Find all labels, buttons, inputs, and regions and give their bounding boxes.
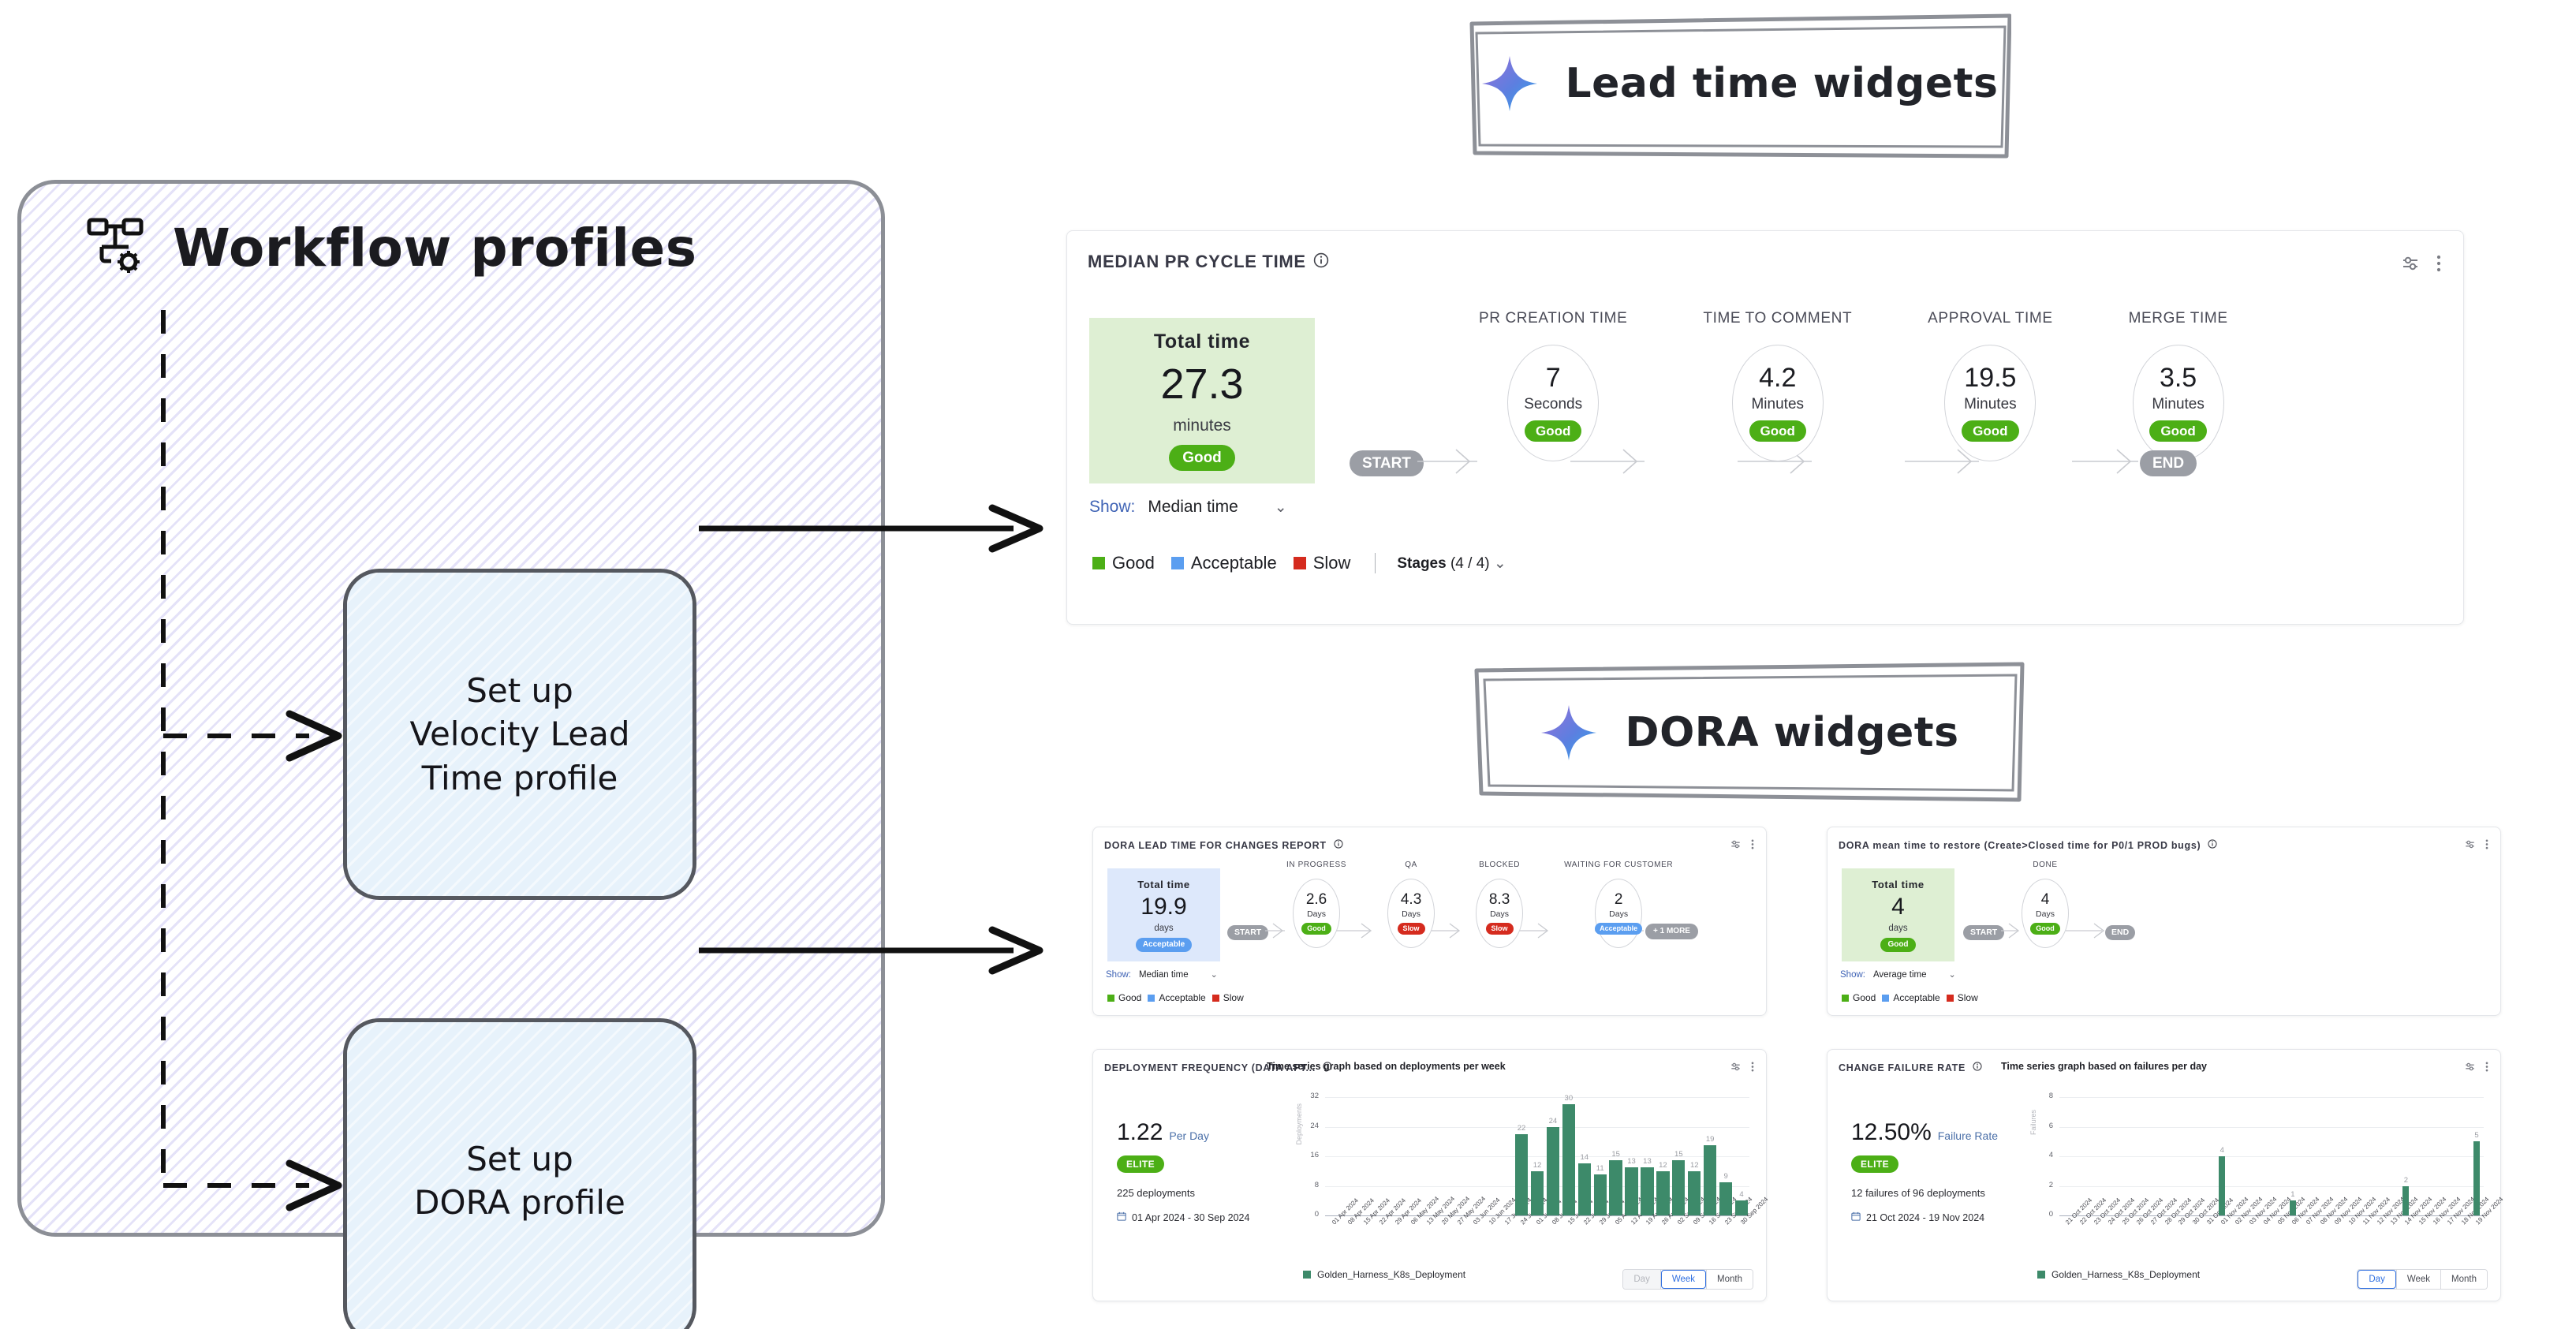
bar-value-label: 22: [1507, 1124, 1536, 1133]
dora-lt-stage-2-value: 8.3: [1489, 892, 1510, 907]
pr-stage-1-status: Good: [1749, 420, 1806, 442]
dora-lt-stage-3-name: WAITING FOR CUSTOMER: [1564, 860, 1673, 869]
sparkle-icon: [1540, 704, 1598, 762]
dora-mttr-show-label: Show:: [1840, 970, 1865, 980]
sparkle-icon: [1480, 54, 1539, 113]
workflow-profiles-title: Workflow profiles: [173, 218, 697, 278]
pr-stage-0-node: 7 Seconds Good: [1507, 345, 1599, 461]
bar[interactable]: [1641, 1167, 1653, 1215]
calendar-icon: [1117, 1211, 1126, 1223]
cfr-tools: [2464, 1061, 2489, 1077]
bar-value-label: 14: [1570, 1153, 1599, 1162]
cfr-granularity-month[interactable]: Month: [2441, 1270, 2487, 1289]
cfr-sub: 12 failures of 96 deployments: [1851, 1187, 1998, 1199]
dora-mttr-legend-slow: Slow: [1947, 992, 1978, 1003]
dora-lt-stage-1-unit: Days: [1402, 909, 1421, 919]
chevron-down-icon[interactable]: ⌄: [1949, 969, 1956, 980]
pr-stages-toggle[interactable]: Stages (4 / 4) ⌄: [1397, 554, 1506, 573]
pr-stage-0-unit: Seconds: [1524, 396, 1582, 413]
lead-time-widgets-banner: Lead time widgets: [1467, 6, 2011, 161]
dora-lt-legend: Good Acceptable Slow: [1107, 992, 1244, 1003]
dora-lt-stage-1-name: QA: [1405, 860, 1417, 869]
pr-stage-1-node: 4.2 Minutes Good: [1732, 345, 1824, 461]
dora-widgets-banner: DORA widgets: [1473, 659, 2025, 806]
pr-stage-2-status: Good: [1962, 420, 2018, 442]
dora-lt-stage-0-status: Good: [1301, 923, 1331, 935]
workflow-profiles-header: Workflow profiles: [84, 217, 697, 278]
cfr-granularity-day[interactable]: Day: [2358, 1270, 2395, 1289]
dora-lead-time-widget: DORA lead time for changes report Total …: [1092, 827, 1767, 1016]
dora-mttr-stage-0-value: 4: [2041, 892, 2050, 907]
pr-show-row[interactable]: Show: Median time ⌄: [1089, 498, 1287, 517]
velocity-profile-label: Set up Velocity Lead Time profile: [409, 669, 629, 800]
pr-stages-toggle-count: (4 / 4): [1450, 555, 1490, 572]
change-failure-rate-widget: Change failure rate Time series graph ba…: [1827, 1049, 2501, 1301]
y-axis-tick: 4: [2031, 1151, 2053, 1159]
bar-value-label: 15: [1664, 1150, 1693, 1159]
depfreq-granularity-week[interactable]: Week: [1661, 1270, 1706, 1289]
gridline: [1325, 1097, 1749, 1098]
calendar-icon: [1851, 1211, 1861, 1223]
pr-stage-3-unit: Minutes: [2152, 396, 2205, 413]
deployment-frequency-widget: Deployment frequency (Data Aft... Time s…: [1092, 1049, 1767, 1301]
depfreq-granularity-month[interactable]: Month: [1707, 1270, 1753, 1289]
dora-lt-show-label: Show:: [1106, 970, 1131, 980]
depfreq-kpi-block: 1.22 Per Day ELITE 225 deployments 01 Ap…: [1117, 1121, 1249, 1223]
depfreq-chart-subtitle: Time series graph based on deployments p…: [1267, 1061, 1506, 1072]
pr-stage-0[interactable]: PR creation time 7 Seconds Good: [1479, 310, 1627, 461]
dora-mttr-legend-acceptable-label: Acceptable: [1893, 992, 1939, 1003]
lead-time-widgets-banner-label: Lead time widgets: [1566, 60, 1999, 107]
pr-stage-0-name: PR creation time: [1479, 310, 1627, 327]
depfreq-granularity-day[interactable]: Day: [1623, 1270, 1659, 1289]
dora-lt-stage-0-name: IN PROGRESS: [1286, 860, 1346, 869]
bar[interactable]: [1515, 1134, 1528, 1215]
pr-legend-good: Good: [1092, 553, 1155, 573]
dora-mttr-legend: Good Acceptable Slow: [1842, 992, 1978, 1003]
pr-stage-3-node: 3.5 Minutes Good: [2133, 345, 2224, 461]
bar-value-label: 4: [2208, 1146, 2236, 1155]
pr-stage-1-value: 4.2: [1759, 364, 1796, 391]
dora-mttr-legend-good: Good: [1842, 992, 1876, 1003]
pr-stage-2[interactable]: Approval time 19.5 Minutes Good: [1928, 310, 2052, 461]
bar[interactable]: [1625, 1167, 1637, 1215]
depfreq-kpi-value: 1.22: [1117, 1121, 1163, 1144]
cfr-kpi-block: 12.50% Failure Rate ELITE 12 failures of…: [1851, 1121, 1998, 1223]
cfr-badge: ELITE: [1851, 1155, 1898, 1173]
overflow-menu-icon[interactable]: [1750, 1061, 1755, 1077]
bar[interactable]: [1688, 1171, 1701, 1215]
pr-legend: Good Acceptable Slow Stages (4 / 4) ⌄: [1092, 553, 1506, 573]
dora-lt-stage-3-status: Acceptable: [1595, 923, 1642, 935]
pr-stage-2-unit: Minutes: [1964, 396, 2017, 413]
dora-lt-legend-acceptable: Acceptable: [1148, 992, 1205, 1003]
bar-value-label: 9: [1712, 1172, 1740, 1181]
y-axis-tick: 32: [1297, 1092, 1319, 1100]
depfreq-series-legend: Golden_Harness_K8s_Deployment: [1303, 1269, 1465, 1280]
dora-lt-stage-3-value: 2: [1615, 892, 1623, 907]
bar[interactable]: [1531, 1171, 1544, 1215]
y-axis-tick: 16: [1297, 1151, 1319, 1159]
dora-lt-stage-1-status: Slow: [1398, 923, 1425, 935]
y-axis-tick: 8: [2031, 1092, 2053, 1100]
pr-stage-3-status: Good: [2149, 420, 2206, 442]
dora-mttr-connectors: [1827, 827, 2502, 1017]
cfr-chart-subtitle: Time series graph based on failures per …: [2001, 1061, 2207, 1072]
y-axis-tick: 8: [1297, 1181, 1319, 1189]
bar[interactable]: [1547, 1127, 1559, 1216]
dora-mttr-show-row[interactable]: Show: Average time ⌄: [1840, 969, 1956, 980]
dora-lt-legend-acceptable-label: Acceptable: [1159, 992, 1205, 1003]
dora-lt-stage-3-unit: Days: [1609, 909, 1628, 919]
pr-stage-3-value: 3.5: [2160, 364, 2197, 391]
cfr-title: Change failure rate: [1839, 1062, 1966, 1073]
chevron-down-icon[interactable]: ⌄: [1275, 498, 1287, 517]
dora-lt-stage-1[interactable]: QA 4.3 Days Slow: [1387, 860, 1435, 948]
chevron-down-icon[interactable]: ⌄: [1494, 555, 1506, 572]
dora-lt-stage-2-node: 8.3 Days Slow: [1476, 879, 1523, 948]
cfr-header: Change failure rate: [1839, 1061, 1982, 1075]
dora-lt-show-value: Median time: [1139, 970, 1189, 980]
pr-end-node: END: [2140, 450, 2197, 476]
y-axis-tick: 24: [1297, 1122, 1319, 1130]
bar-value-label: 5: [2462, 1131, 2491, 1140]
bar[interactable]: [2290, 1200, 2296, 1215]
gridline: [2059, 1186, 2484, 1187]
pr-show-label: Show:: [1089, 498, 1135, 517]
cfr-kpi-value: 12.50%: [1851, 1121, 1932, 1144]
dora-lt-stage-2[interactable]: BLOCKED 8.3 Days Slow: [1476, 860, 1523, 948]
dora-mttr-stage-0[interactable]: DONE 4 Days Good: [2022, 860, 2069, 948]
set-up-dora-profile-box[interactable]: Set up DORA profile: [343, 1018, 696, 1329]
pr-stage-track: PR creation time 7 Seconds Good Time to …: [1479, 310, 2228, 461]
dora-lt-legend-good-label: Good: [1118, 992, 1141, 1003]
dora-mttr-widget: DORA mean time to restore (Create>Closed…: [1827, 827, 2501, 1016]
dora-mttr-legend-good-label: Good: [1853, 992, 1876, 1003]
bar-value-label: 2: [2391, 1176, 2420, 1185]
y-axis-tick: 2: [2031, 1181, 2053, 1189]
gridline: [1325, 1127, 1749, 1128]
dora-lt-show-row[interactable]: Show: Median time ⌄: [1106, 969, 1218, 980]
pr-stages-toggle-label: Stages: [1397, 555, 1446, 572]
pr-stage-0-status: Good: [1525, 420, 1581, 442]
dora-lt-more-node[interactable]: + 1 MORE: [1645, 924, 1698, 939]
pr-stage-1-name: Time to comment: [1703, 310, 1852, 327]
dora-mttr-stage-0-status: Good: [2030, 923, 2060, 935]
settings-sliders-icon[interactable]: [1730, 1061, 1742, 1077]
bar[interactable]: [1609, 1160, 1622, 1215]
set-up-velocity-lead-time-profile-box[interactable]: Set up Velocity Lead Time profile: [343, 569, 696, 900]
dora-widgets-banner-label: DORA widgets: [1625, 709, 1958, 756]
pr-stage-2-name: Approval time: [1928, 310, 2052, 327]
pr-legend-slow: Slow: [1294, 553, 1351, 573]
pr-stage-3-name: Merge time: [2129, 310, 2228, 327]
pr-stage-0-value: 7: [1546, 364, 1561, 391]
dora-mttr-stage-track: DONE 4 Days Good: [2022, 860, 2069, 948]
dora-lt-legend-good: Good: [1107, 992, 1141, 1003]
cfr-date-range-row: 21 Oct 2024 - 19 Nov 2024: [1851, 1211, 1998, 1223]
workflow-settings-icon: [84, 217, 152, 278]
dora-profile-label: Set up DORA profile: [414, 1137, 625, 1225]
gridline: [2059, 1127, 2484, 1128]
dora-mttr-show-value: Average time: [1873, 970, 1927, 980]
pr-show-value: Median time: [1148, 498, 1238, 517]
dora-mttr-stage-0-unit: Days: [2036, 909, 2055, 919]
diagram-canvas: Workflow profiles Set up Velocity Lead T…: [0, 0, 2576, 1329]
dora-lt-stage-0[interactable]: IN PROGRESS 2.6 Days Good: [1286, 860, 1346, 948]
settings-sliders-icon[interactable]: [2464, 1061, 2476, 1077]
cfr-kpi-unit: Failure Rate: [1938, 1129, 1998, 1142]
dora-mttr-end-node: END: [2105, 925, 2135, 940]
cfr-granularity-week[interactable]: Week: [2397, 1270, 2440, 1289]
bar[interactable]: [1594, 1174, 1607, 1215]
depfreq-badge: ELITE: [1117, 1155, 1164, 1173]
bar[interactable]: [2402, 1186, 2409, 1216]
cfr-granularity-toggle[interactable]: Day Week Month: [2357, 1269, 2488, 1290]
bar-value-label: 30: [1555, 1094, 1583, 1103]
gridline: [2059, 1097, 2484, 1098]
pr-stage-1-unit: Minutes: [1751, 396, 1804, 413]
dora-lt-stage-0-unit: Days: [1307, 909, 1326, 919]
bar-value-label: 19: [1696, 1135, 1724, 1144]
bar-value-label: 4: [1727, 1190, 1756, 1199]
bar[interactable]: [1656, 1171, 1669, 1215]
depfreq-date-range: 01 Apr 2024 - 30 Sep 2024: [1132, 1212, 1249, 1223]
bar[interactable]: [2219, 1156, 2225, 1215]
chevron-down-icon[interactable]: ⌄: [1211, 969, 1218, 980]
dora-mttr-legend-acceptable: Acceptable: [1882, 992, 1939, 1003]
pr-stage-1[interactable]: Time to comment 4.2 Minutes Good: [1703, 310, 1852, 461]
legend-divider: [1375, 553, 1376, 573]
workflow-profiles-panel: Workflow profiles Set up Velocity Lead T…: [17, 180, 885, 1237]
depfreq-tools: [1730, 1061, 1755, 1077]
pr-legend-acceptable-label: Acceptable: [1191, 553, 1277, 573]
dora-mttr-stage-0-name: DONE: [2033, 860, 2057, 869]
pr-stage-2-node: 19.5 Minutes Good: [1944, 345, 2036, 461]
overflow-menu-icon[interactable]: [2485, 1061, 2489, 1077]
change-failure-rate-chart: Failures 0246821 Oct 202422 Oct 202423 O…: [2031, 1086, 2488, 1264]
depfreq-series-name: Golden_Harness_K8s_Deployment: [1317, 1269, 1465, 1280]
cfr-series-name: Golden_Harness_K8s_Deployment: [2051, 1269, 2200, 1280]
info-icon[interactable]: [1973, 1061, 1982, 1075]
dora-lt-stage-2-unit: Days: [1490, 909, 1509, 919]
deployment-frequency-chart: Deployments 0816243201 Apr 202408 Apr 20…: [1297, 1086, 1754, 1264]
dora-lt-stage-track: IN PROGRESS 2.6 Days Good QA 4.3 Days Sl…: [1286, 860, 1673, 948]
y-axis-tick: 0: [2031, 1210, 2053, 1219]
dora-lt-stage-1-value: 4.3: [1401, 892, 1421, 907]
dora-lt-legend-slow: Slow: [1212, 992, 1244, 1003]
median-pr-cycle-time-widget: Median PR cycle time Total time 27.3 min…: [1066, 230, 2464, 625]
dora-mttr-legend-slow-label: Slow: [1958, 992, 1978, 1003]
dora-lt-stage-0-value: 2.6: [1306, 892, 1327, 907]
pr-legend-good-label: Good: [1112, 553, 1155, 573]
cfr-series-legend: Golden_Harness_K8s_Deployment: [2037, 1269, 2200, 1280]
depfreq-sub: 225 deployments: [1117, 1187, 1249, 1199]
bar[interactable]: [2473, 1141, 2480, 1215]
dora-lt-stage-2-name: BLOCKED: [1479, 860, 1520, 869]
pr-legend-acceptable: Acceptable: [1171, 553, 1277, 573]
pr-stage-3[interactable]: Merge time 3.5 Minutes Good: [2129, 310, 2228, 461]
y-axis-tick: 6: [2031, 1122, 2053, 1130]
depfreq-date-range-row: 01 Apr 2024 - 30 Sep 2024: [1117, 1211, 1249, 1223]
depfreq-kpi-unit: Per Day: [1169, 1129, 1209, 1142]
pr-stage-2-value: 19.5: [1964, 364, 2016, 391]
bar-value-label: 1: [2279, 1190, 2307, 1199]
dora-lt-stage-1-node: 4.3 Days Slow: [1387, 879, 1435, 948]
dora-lt-legend-slow-label: Slow: [1223, 992, 1244, 1003]
pr-legend-slow-label: Slow: [1313, 553, 1351, 573]
gridline: [2059, 1156, 2484, 1157]
dora-mttr-stage-0-node: 4 Days Good: [2022, 879, 2069, 948]
depfreq-granularity-toggle[interactable]: Day Week Month: [1622, 1269, 1753, 1290]
cfr-date-range: 21 Oct 2024 - 19 Nov 2024: [1866, 1212, 1984, 1223]
y-axis-tick: 0: [1297, 1210, 1319, 1219]
dora-lt-stage-0-node: 2.6 Days Good: [1293, 879, 1340, 948]
dora-lt-stage-2-status: Slow: [1486, 923, 1514, 935]
dora-lt-stage-3-node: 2 Days Acceptable: [1595, 879, 1642, 948]
